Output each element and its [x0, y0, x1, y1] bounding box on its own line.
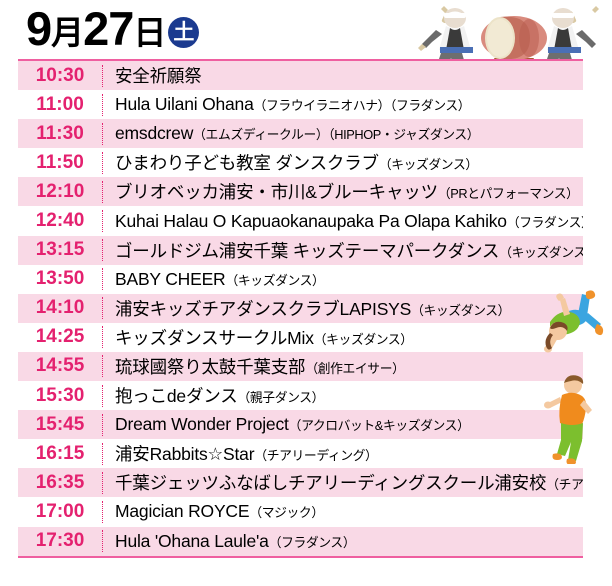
- row-time: 12:10: [18, 181, 102, 203]
- column-divider: [102, 326, 103, 348]
- row-title: 千葉ジェッツふなばしチアリーディングスクール浦安校（チアダンス）: [115, 470, 583, 495]
- row-title-note: （マジック）: [249, 505, 323, 520]
- schedule-row: 15:45 Dream Wonder Project（アクロバット&キッズダンス…: [18, 410, 583, 439]
- schedule-row: 15:30 抱っこdeダンス（親子ダンス）: [18, 381, 583, 410]
- row-title: 安全祈願祭: [115, 63, 583, 88]
- schedule-row: 13:50 BABY CHEER（キッズダンス）: [18, 265, 583, 294]
- schedule-row: 14:55 琉球國祭り太鼓千葉支部（創作エイサー）: [18, 352, 583, 381]
- row-title-main: 安全祈願祭: [115, 66, 202, 86]
- row-title-main: Dream Wonder Project: [115, 414, 289, 434]
- row-time: 11:50: [18, 152, 102, 174]
- column-divider: [102, 297, 103, 319]
- row-title: Magician ROYCE（マジック）: [115, 501, 583, 522]
- row-title-note: （キッズダンス）: [379, 157, 478, 172]
- schedule-row: 14:10 浦安キッズチアダンスクラブLAPISYS（キッズダンス）: [18, 294, 583, 323]
- row-title-note: （フラダンス）: [507, 215, 583, 230]
- row-title-note: （アクロバット&キッズダンス）: [289, 418, 470, 433]
- row-title-main: 琉球國祭り太鼓千葉支部: [115, 357, 305, 377]
- row-title-note: （フラダンス）: [269, 535, 356, 550]
- row-title-note: （キッズダンス）: [499, 245, 583, 260]
- row-title-main: キッズダンスサークルMix: [115, 328, 314, 348]
- date-day-number: 27: [83, 5, 133, 52]
- row-title-main: 浦安キッズチアダンスクラブLAPISYS: [115, 299, 411, 319]
- date-day-kanji: 日: [133, 16, 165, 49]
- column-divider: [102, 530, 103, 552]
- date-heading: 9 月 27 日 土: [26, 2, 199, 54]
- row-time: 13:50: [18, 268, 102, 290]
- row-title-main: BABY CHEER: [115, 269, 226, 289]
- row-time: 14:25: [18, 326, 102, 348]
- row-time: 14:55: [18, 355, 102, 377]
- row-title-main: Magician ROYCE: [115, 501, 249, 521]
- column-divider: [102, 414, 103, 436]
- row-title: 琉球國祭り太鼓千葉支部（創作エイサー）: [115, 354, 583, 379]
- row-title-main: ひまわり子ども教室 ダンスクラブ: [115, 153, 379, 173]
- row-time: 10:30: [18, 65, 102, 87]
- row-title: Hula 'Ohana Laule'a（フラダンス）: [115, 531, 583, 552]
- schedule-table: 10:30 安全祈願祭 11:00 Hula Uilani Ohana（フラウイ…: [18, 59, 583, 558]
- row-title-note: （チアリーディング）: [254, 448, 377, 463]
- row-title-main: Hula 'Ohana Laule'a: [115, 531, 269, 551]
- row-title: 抱っこdeダンス（親子ダンス）: [115, 383, 583, 408]
- row-time: 15:30: [18, 385, 102, 407]
- weekday-badge: 土: [168, 17, 199, 48]
- row-time: 17:30: [18, 530, 102, 552]
- row-title-note: （エムズディークルー）（HIPHOP・ジャズダンス）: [193, 127, 479, 142]
- row-title: 浦安Rabbits☆Star（チアリーディング）: [115, 441, 583, 466]
- row-time: 14:10: [18, 297, 102, 319]
- column-divider: [102, 94, 103, 116]
- row-title-main: 千葉ジェッツふなばしチアリーディングスクール浦安校: [115, 473, 546, 493]
- row-title-note: （親子ダンス）: [238, 390, 325, 405]
- schedule-row: 16:35 千葉ジェッツふなばしチアリーディングスクール浦安校（チアダンス）: [18, 468, 583, 497]
- column-divider: [102, 268, 103, 290]
- schedule-row: 16:15 浦安Rabbits☆Star（チアリーディング）: [18, 439, 583, 468]
- column-divider: [102, 501, 103, 523]
- standing-dancer-illustration: [540, 372, 600, 464]
- row-title-note: （フラウイラニオハナ）（フラダンス）: [254, 98, 471, 113]
- row-title: ゴールドジム浦安千葉 キッズテーマパークダンス（キッズダンス）: [115, 238, 583, 263]
- column-divider: [102, 65, 103, 87]
- date-month-kanji: 月: [51, 16, 83, 49]
- row-time: 16:35: [18, 472, 102, 494]
- row-title: Hula Uilani Ohana（フラウイラニオハナ）（フラダンス）: [115, 94, 583, 115]
- row-time: 11:30: [18, 123, 102, 145]
- row-title: Kuhai Halau O Kapuaokanaupaka Pa Olapa K…: [115, 211, 583, 232]
- date-month-number: 9: [26, 5, 51, 52]
- row-title-note: （キッズダンス）: [314, 332, 413, 347]
- row-title-note: （PRとパフォーマンス）: [438, 186, 579, 201]
- schedule-row: 17:30 Hula 'Ohana Laule'a（フラダンス）: [18, 527, 583, 556]
- column-divider: [102, 123, 103, 145]
- schedule-row: 10:30 安全祈願祭: [18, 61, 583, 90]
- schedule-row: 17:00 Magician ROYCE（マジック）: [18, 497, 583, 526]
- schedule-row: 11:00 Hula Uilani Ohana（フラウイラニオハナ）（フラダンス…: [18, 90, 583, 119]
- schedule-row: 12:10 ブリオベッカ浦安・市川&ブルーキャッツ（PRとパフォーマンス）: [18, 177, 583, 206]
- schedule-row: 11:50 ひまわり子ども教室 ダンスクラブ（キッズダンス）: [18, 148, 583, 177]
- schedule-row: 12:40 Kuhai Halau O Kapuaokanaupaka Pa O…: [18, 206, 583, 235]
- column-divider: [102, 443, 103, 465]
- row-title: ブリオベッカ浦安・市川&ブルーキャッツ（PRとパフォーマンス）: [115, 179, 583, 204]
- schedule-row: 14:25 キッズダンスサークルMix（キッズダンス）: [18, 323, 583, 352]
- row-title: 浦安キッズチアダンスクラブLAPISYS（キッズダンス）: [115, 296, 583, 321]
- row-time: 11:00: [18, 94, 102, 116]
- column-divider: [102, 239, 103, 261]
- column-divider: [102, 385, 103, 407]
- row-time: 15:45: [18, 414, 102, 436]
- row-title-main: emsdcrew: [115, 123, 193, 143]
- page-header: 9 月 27 日 土: [0, 0, 612, 58]
- column-divider: [102, 472, 103, 494]
- row-title: Dream Wonder Project（アクロバット&キッズダンス）: [115, 414, 583, 435]
- column-divider: [102, 181, 103, 203]
- row-title-main: ブリオベッカ浦安・市川&ブルーキャッツ: [115, 182, 438, 202]
- schedule-row: 13:15 ゴールドジム浦安千葉 キッズテーマパークダンス（キッズダンス）: [18, 236, 583, 265]
- row-time: 12:40: [18, 210, 102, 232]
- schedule-row: 11:30 emsdcrew（エムズディークルー）（HIPHOP・ジャズダンス）: [18, 119, 583, 148]
- row-title: ひまわり子ども教室 ダンスクラブ（キッズダンス）: [115, 150, 583, 175]
- row-title-note: （創作エイサー）: [305, 361, 404, 376]
- row-title-note: （チアダンス）: [546, 477, 583, 492]
- column-divider: [102, 210, 103, 232]
- acrobat-dancer-illustration: [538, 288, 606, 370]
- row-title-main: 抱っこdeダンス: [115, 386, 238, 406]
- row-time: 17:00: [18, 501, 102, 523]
- row-title-note: （キッズダンス）: [226, 273, 325, 288]
- row-time: 16:15: [18, 443, 102, 465]
- row-title-main: ゴールドジム浦安千葉 キッズテーマパークダンス: [115, 241, 499, 261]
- column-divider: [102, 152, 103, 174]
- row-title-main: Hula Uilani Ohana: [115, 94, 254, 114]
- row-title-main: Kuhai Halau O Kapuaokanaupaka Pa Olapa K…: [115, 211, 507, 231]
- column-divider: [102, 355, 103, 377]
- row-title: キッズダンスサークルMix（キッズダンス）: [115, 325, 583, 350]
- row-time: 13:15: [18, 239, 102, 261]
- row-title: BABY CHEER（キッズダンス）: [115, 269, 583, 290]
- row-title-main: 浦安Rabbits☆Star: [115, 444, 254, 464]
- row-title: emsdcrew（エムズディークルー）（HIPHOP・ジャズダンス）: [115, 123, 583, 144]
- row-title-note: （キッズダンス）: [411, 303, 510, 318]
